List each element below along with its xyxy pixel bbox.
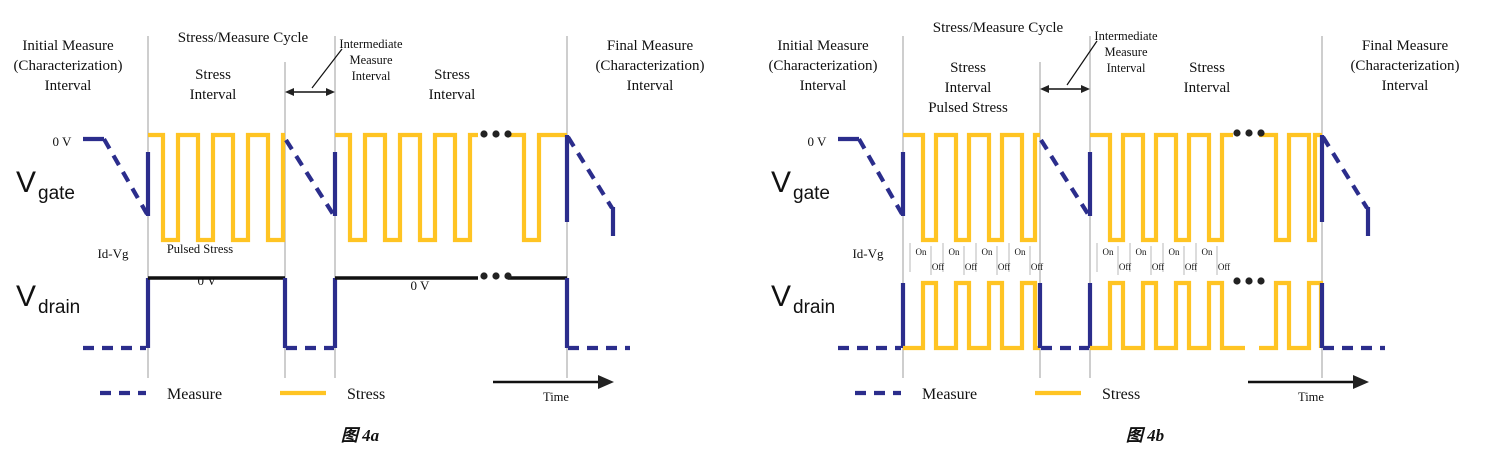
final-measure-line1: Final Measure	[607, 38, 694, 54]
annotation-initial-measure-4a: Initial Measure (Characterization) Inter…	[13, 38, 122, 94]
onoff-label-on-2: On	[949, 247, 960, 257]
final-measure-line2: (Characterization)	[595, 58, 704, 74]
vgate-axis-label-4b: V gate	[771, 166, 830, 204]
drain-ellipsis-4b	[1233, 277, 1264, 284]
onoff-label2-on-2: On	[1136, 247, 1147, 257]
initial-measure-line2: (Characterization)	[13, 58, 122, 74]
stress-interval-2-line2: Interval	[1184, 80, 1231, 96]
drain-zero-volt-label-1-4a: 0 V	[198, 273, 218, 288]
gate-ellipsis-4a	[480, 130, 511, 137]
vgate-sub: gate	[793, 183, 830, 204]
figure-panel-4a: Initial Measure (Characterization) Inter…	[0, 0, 754, 459]
gate-measure-ramp-initial-4a	[104, 139, 147, 214]
intermediate-line3: Interval	[1107, 61, 1146, 75]
gate-zero-volt-label-4a: 0 V	[53, 134, 73, 149]
stress-interval-2-line1: Stress	[434, 67, 470, 83]
intermediate-leader-line	[1067, 41, 1097, 85]
vdrain-axis-label-4a: V drain	[16, 280, 80, 318]
final-measure-line3: Interval	[627, 78, 674, 94]
time-label-4b: Time	[1298, 390, 1324, 404]
legend-stress-label-4b: Stress	[1102, 386, 1140, 403]
onoff-label-off-1: Off	[932, 262, 944, 272]
waveform-svg-4b: Initial Measure (Characterization) Inter…	[755, 0, 1509, 459]
onoff-label-off-3: Off	[998, 262, 1010, 272]
stress-interval-1-line2: Interval	[945, 80, 992, 96]
final-measure-line1: Final Measure	[1362, 38, 1449, 54]
figure-caption-4a: 图 4a	[341, 426, 380, 445]
annotation-stress-interval-2-4b: Stress Interval	[1184, 60, 1231, 96]
onoff-label2-off-1: Off	[1119, 262, 1131, 272]
vdrain-sub: drain	[38, 297, 80, 318]
stress-measure-cycle-label-4a: Stress/Measure Cycle	[178, 30, 309, 46]
stress-interval-2-line2: Interval	[429, 87, 476, 103]
annotation-intermediate-measure-4b: Intermediate Measure Interval	[1040, 29, 1158, 93]
intermediate-arrow-left-head	[285, 88, 294, 96]
id-vg-label-4a: Id-Vg	[97, 246, 129, 261]
onoff-label2-off-2: Off	[1152, 262, 1164, 272]
id-vg-label-4b: Id-Vg	[852, 246, 884, 261]
time-axis-4a: Time	[493, 375, 614, 404]
vdrain-axis-label-4b: V drain	[771, 280, 835, 318]
drain-zero-volt-label-2-4a: 0 V	[411, 278, 431, 293]
vgate-main: V	[771, 166, 791, 199]
gate-measure-ramp-intermediate-4a	[286, 140, 333, 214]
onoff-label-on-4: On	[1015, 247, 1026, 257]
legend-4b: Measure Stress	[855, 386, 1140, 403]
stress-interval-1-line2: Interval	[190, 87, 237, 103]
figure-panel-4b: Initial Measure (Characterization) Inter…	[755, 0, 1509, 459]
intermediate-line1: Intermediate	[339, 37, 403, 51]
figure-caption-4b: 图 4b	[1126, 426, 1164, 445]
stress-interval-1-line3: Pulsed Stress	[928, 100, 1008, 116]
stress-interval-1-line1: Stress	[195, 67, 231, 83]
gate-ellipsis-4b	[1233, 129, 1264, 136]
intermediate-leader-line	[312, 49, 342, 88]
legend-measure-label-4b: Measure	[922, 386, 977, 403]
intermediate-line1: Intermediate	[1094, 29, 1158, 43]
annotation-initial-measure-4b: Initial Measure (Characterization) Inter…	[768, 38, 877, 94]
intermediate-arrow-right-head	[1081, 85, 1090, 93]
final-measure-line2: (Characterization)	[1350, 58, 1459, 74]
drain-stress-pulses-interval-1-4b	[903, 283, 1040, 348]
legend-stress-label-4a: Stress	[347, 386, 385, 403]
gate-stress-pulses-interval-2b-4a	[508, 135, 567, 240]
drain-ellipsis-4a	[480, 272, 511, 279]
stress-interval-2-line1: Stress	[1189, 60, 1225, 76]
initial-measure-line3: Interval	[45, 78, 92, 94]
legend-measure-label-4a: Measure	[167, 386, 222, 403]
waveform-svg-4a: Initial Measure (Characterization) Inter…	[0, 0, 754, 459]
stress-interval-1-line1: Stress	[950, 60, 986, 76]
vdrain-sub: drain	[793, 297, 835, 318]
vgate-axis-label-4a: V gate	[16, 166, 75, 204]
gate-measure-ramp-final-4a	[568, 137, 612, 208]
onoff-label-on-1: On	[916, 247, 927, 257]
time-label-4a: Time	[543, 390, 569, 404]
gate-measure-ramp-final-4b	[1323, 137, 1367, 208]
annotation-stress-interval-2-4a: Stress Interval	[429, 67, 476, 103]
vdrain-main: V	[771, 280, 791, 313]
onoff-label-on-3: On	[982, 247, 993, 257]
intermediate-line2: Measure	[349, 53, 392, 67]
legend-4a: Measure Stress	[100, 386, 385, 403]
intermediate-arrow-left-head	[1040, 85, 1049, 93]
vgate-sub: gate	[38, 183, 75, 204]
pulsed-stress-label-4a: Pulsed Stress	[167, 242, 233, 256]
annotation-stress-interval-1-4b: Stress Interval Pulsed Stress	[928, 60, 1008, 116]
gate-measure-ramp-initial-4b	[859, 139, 902, 214]
figure-stage: Initial Measure (Characterization) Inter…	[0, 0, 1509, 459]
intermediate-arrow-right-head	[326, 88, 335, 96]
onoff-label2-off-3: Off	[1185, 262, 1197, 272]
time-arrow-head-4b	[1353, 375, 1369, 389]
onoff-label-off-4: Off	[1031, 262, 1043, 272]
final-measure-line3: Interval	[1382, 78, 1429, 94]
onoff-labels-interval-2-4b: On Off On Off On Off On Off	[1103, 247, 1231, 272]
vgate-main: V	[16, 166, 36, 199]
time-arrow-head-4a	[598, 375, 614, 389]
stress-measure-cycle-label-4b: Stress/Measure Cycle	[933, 20, 1064, 36]
onoff-label2-on-1: On	[1103, 247, 1114, 257]
gate-stress-pulses-interval-1-4a	[148, 135, 285, 240]
gate-measure-ramp-intermediate-4b	[1041, 140, 1088, 214]
time-axis-4b: Time	[1248, 375, 1369, 404]
initial-measure-line3: Interval	[800, 78, 847, 94]
gate-zero-volt-label-4b: 0 V	[808, 134, 828, 149]
initial-measure-line1: Initial Measure	[22, 38, 114, 54]
intermediate-line2: Measure	[1104, 45, 1147, 59]
onoff-label2-on-3: On	[1169, 247, 1180, 257]
onoff-label2-off-4: Off	[1218, 262, 1230, 272]
initial-measure-line1: Initial Measure	[777, 38, 869, 54]
onoff-label2-on-4: On	[1202, 247, 1213, 257]
drain-stress-pulses-interval-2a-4b	[1090, 283, 1245, 348]
onoff-labels-interval-1-4b: On Off On Off On Off On Off	[916, 247, 1044, 272]
gate-stress-pulses-interval-2a-4a	[335, 135, 478, 240]
gate-stress-pulses-interval-2a-4b	[1090, 135, 1233, 240]
intermediate-line3: Interval	[352, 69, 391, 83]
onoff-label-off-2: Off	[965, 262, 977, 272]
annotation-stress-interval-1-4a: Stress Interval	[190, 67, 237, 103]
gate-stress-pulses-interval-2b-4b	[1259, 135, 1322, 240]
annotation-final-measure-4a: Final Measure (Characterization) Interva…	[595, 38, 704, 94]
annotation-final-measure-4b: Final Measure (Characterization) Interva…	[1350, 38, 1459, 94]
gate-stress-pulses-interval-1-4b	[903, 135, 1040, 240]
vdrain-main: V	[16, 280, 36, 313]
drain-stress-pulses-interval-2b-4b	[1259, 283, 1321, 348]
initial-measure-line2: (Characterization)	[768, 58, 877, 74]
